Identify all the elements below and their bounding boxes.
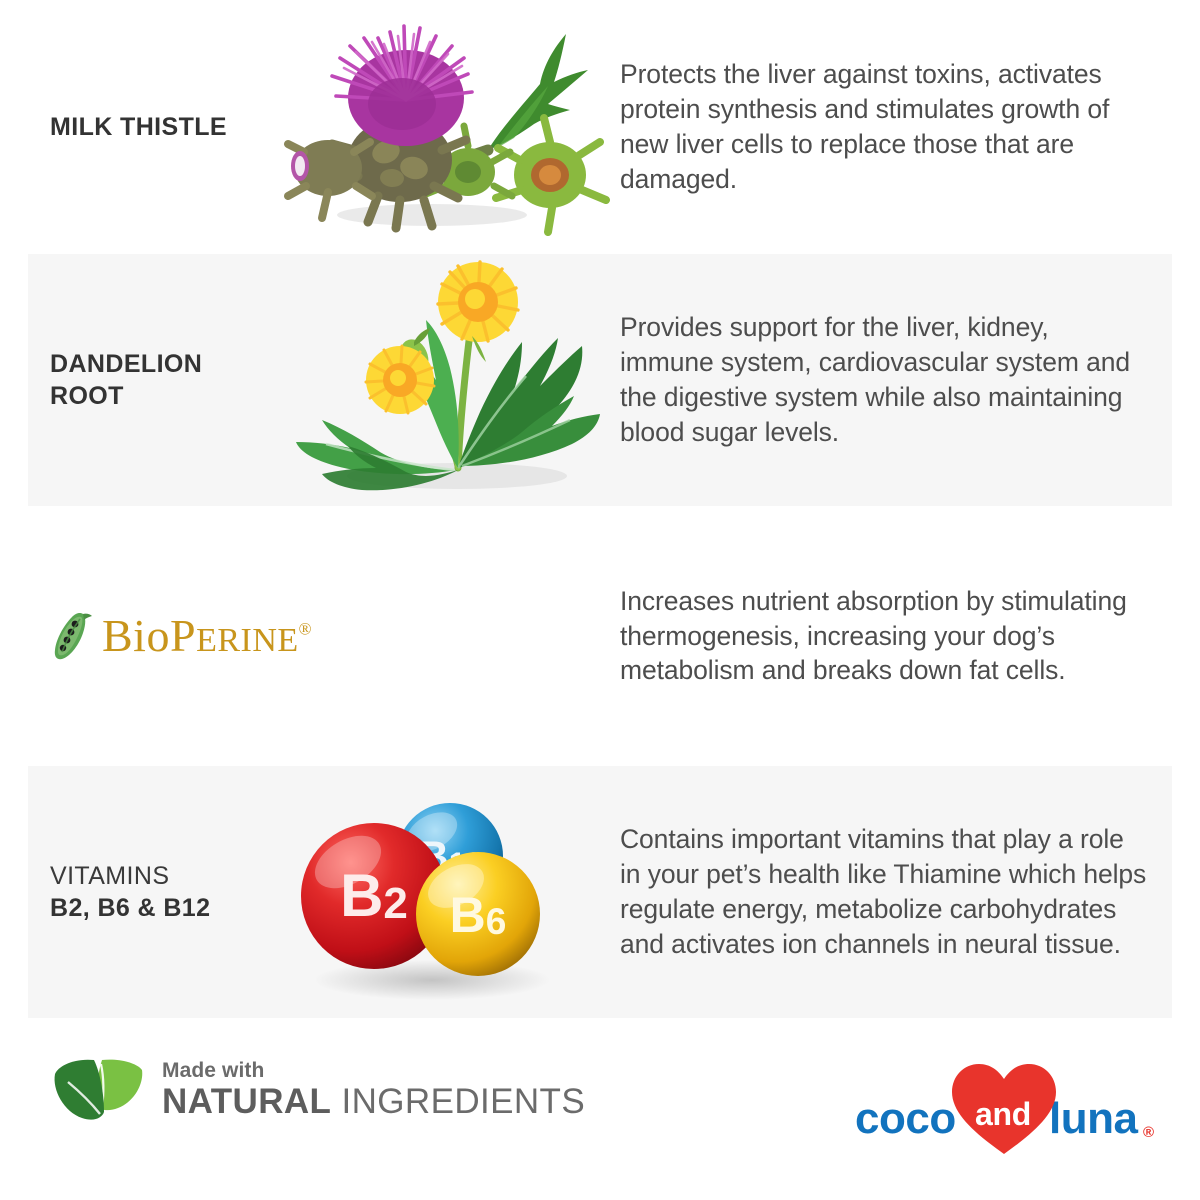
ingredient-description: Protects the liver against toxins, activ… [620, 57, 1148, 197]
ingredient-label-vitamins: VITAMINS B2, B6 & B12 [0, 860, 282, 924]
vitamin-sphere-b6: B6 [416, 852, 540, 976]
natural-ingredients-badge: Made with NATURAL INGREDIENTS [52, 1054, 585, 1126]
ingredient-name-line-2: ROOT [50, 380, 282, 412]
footer: Made with NATURAL INGREDIENTS coco and l… [0, 1040, 1200, 1180]
bioperine-erine: ERINE [196, 622, 299, 659]
badge-ingredients-word: INGREDIENTS [331, 1082, 585, 1121]
bioperine-p: P [170, 610, 196, 661]
ingredient-description-wrap: Provides support for the liver, kidney, … [620, 310, 1200, 450]
ingredient-description-wrap: Contains important vitamins that play a … [620, 822, 1200, 962]
leaf-icon [52, 1054, 144, 1126]
badge-made-with-label: Made with [162, 1059, 585, 1082]
milk-thistle-illustration [282, 0, 620, 254]
dandelion-icon [282, 254, 620, 506]
bioperine-logo: BioPERINE® [0, 610, 620, 662]
vitamin-spheres-illustration: B12 B2 B6 [282, 766, 620, 1018]
ingredient-row-vitamins: VITAMINS B2, B6 & B12 [0, 766, 1200, 1018]
brand-logo-coco-and-luna[interactable]: coco and luna ® [855, 1066, 1155, 1154]
ingredient-row-milk-thistle: MILK THISTLE [0, 0, 1200, 254]
registered-trademark-icon: ® [1143, 1124, 1154, 1141]
ingredient-infographic: MILK THISTLE [0, 0, 1200, 1200]
registered-trademark-icon: ® [299, 620, 312, 639]
ingredient-description: Contains important vitamins that play a … [620, 822, 1148, 962]
ingredient-description: Increases nutrient absorption by stimula… [620, 584, 1148, 689]
ingredient-description-wrap: Increases nutrient absorption by stimula… [620, 584, 1200, 689]
bioperine-bio: Bio [102, 610, 170, 661]
badge-main-label: NATURAL INGREDIENTS [162, 1082, 585, 1121]
ingredient-label-dandelion-root: DANDELION ROOT [0, 348, 282, 412]
ingredient-name-line-2: B2, B6 & B12 [50, 892, 282, 924]
ingredient-name: MILK THISTLE [50, 111, 282, 143]
bioperine-wordmark: BioPERINE® [102, 613, 312, 659]
ingredient-row-bioperine: BioPERINE® Increases nutrient absorption… [0, 506, 1200, 766]
brand-and-word: and [975, 1096, 1031, 1133]
milk-thistle-icon [282, 0, 620, 254]
brand-coco-word: coco [855, 1097, 956, 1141]
vitamin-balls-icon: B12 B2 B6 [282, 766, 620, 1018]
ingredient-name-line-1: VITAMINS [50, 860, 282, 892]
ingredient-name-line-1: DANDELION [50, 348, 282, 380]
ingredient-description: Provides support for the liver, kidney, … [620, 310, 1148, 450]
ingredient-label-milk-thistle: MILK THISTLE [0, 111, 282, 143]
dandelion-plant-illustration [282, 254, 620, 506]
ingredient-description-wrap: Protects the liver against toxins, activ… [620, 57, 1200, 197]
pepper-pod-icon [50, 610, 94, 662]
badge-natural-word: NATURAL [162, 1082, 331, 1121]
brand-luna-word: luna [1049, 1097, 1137, 1141]
ingredient-row-dandelion-root: DANDELION ROOT [0, 254, 1200, 506]
